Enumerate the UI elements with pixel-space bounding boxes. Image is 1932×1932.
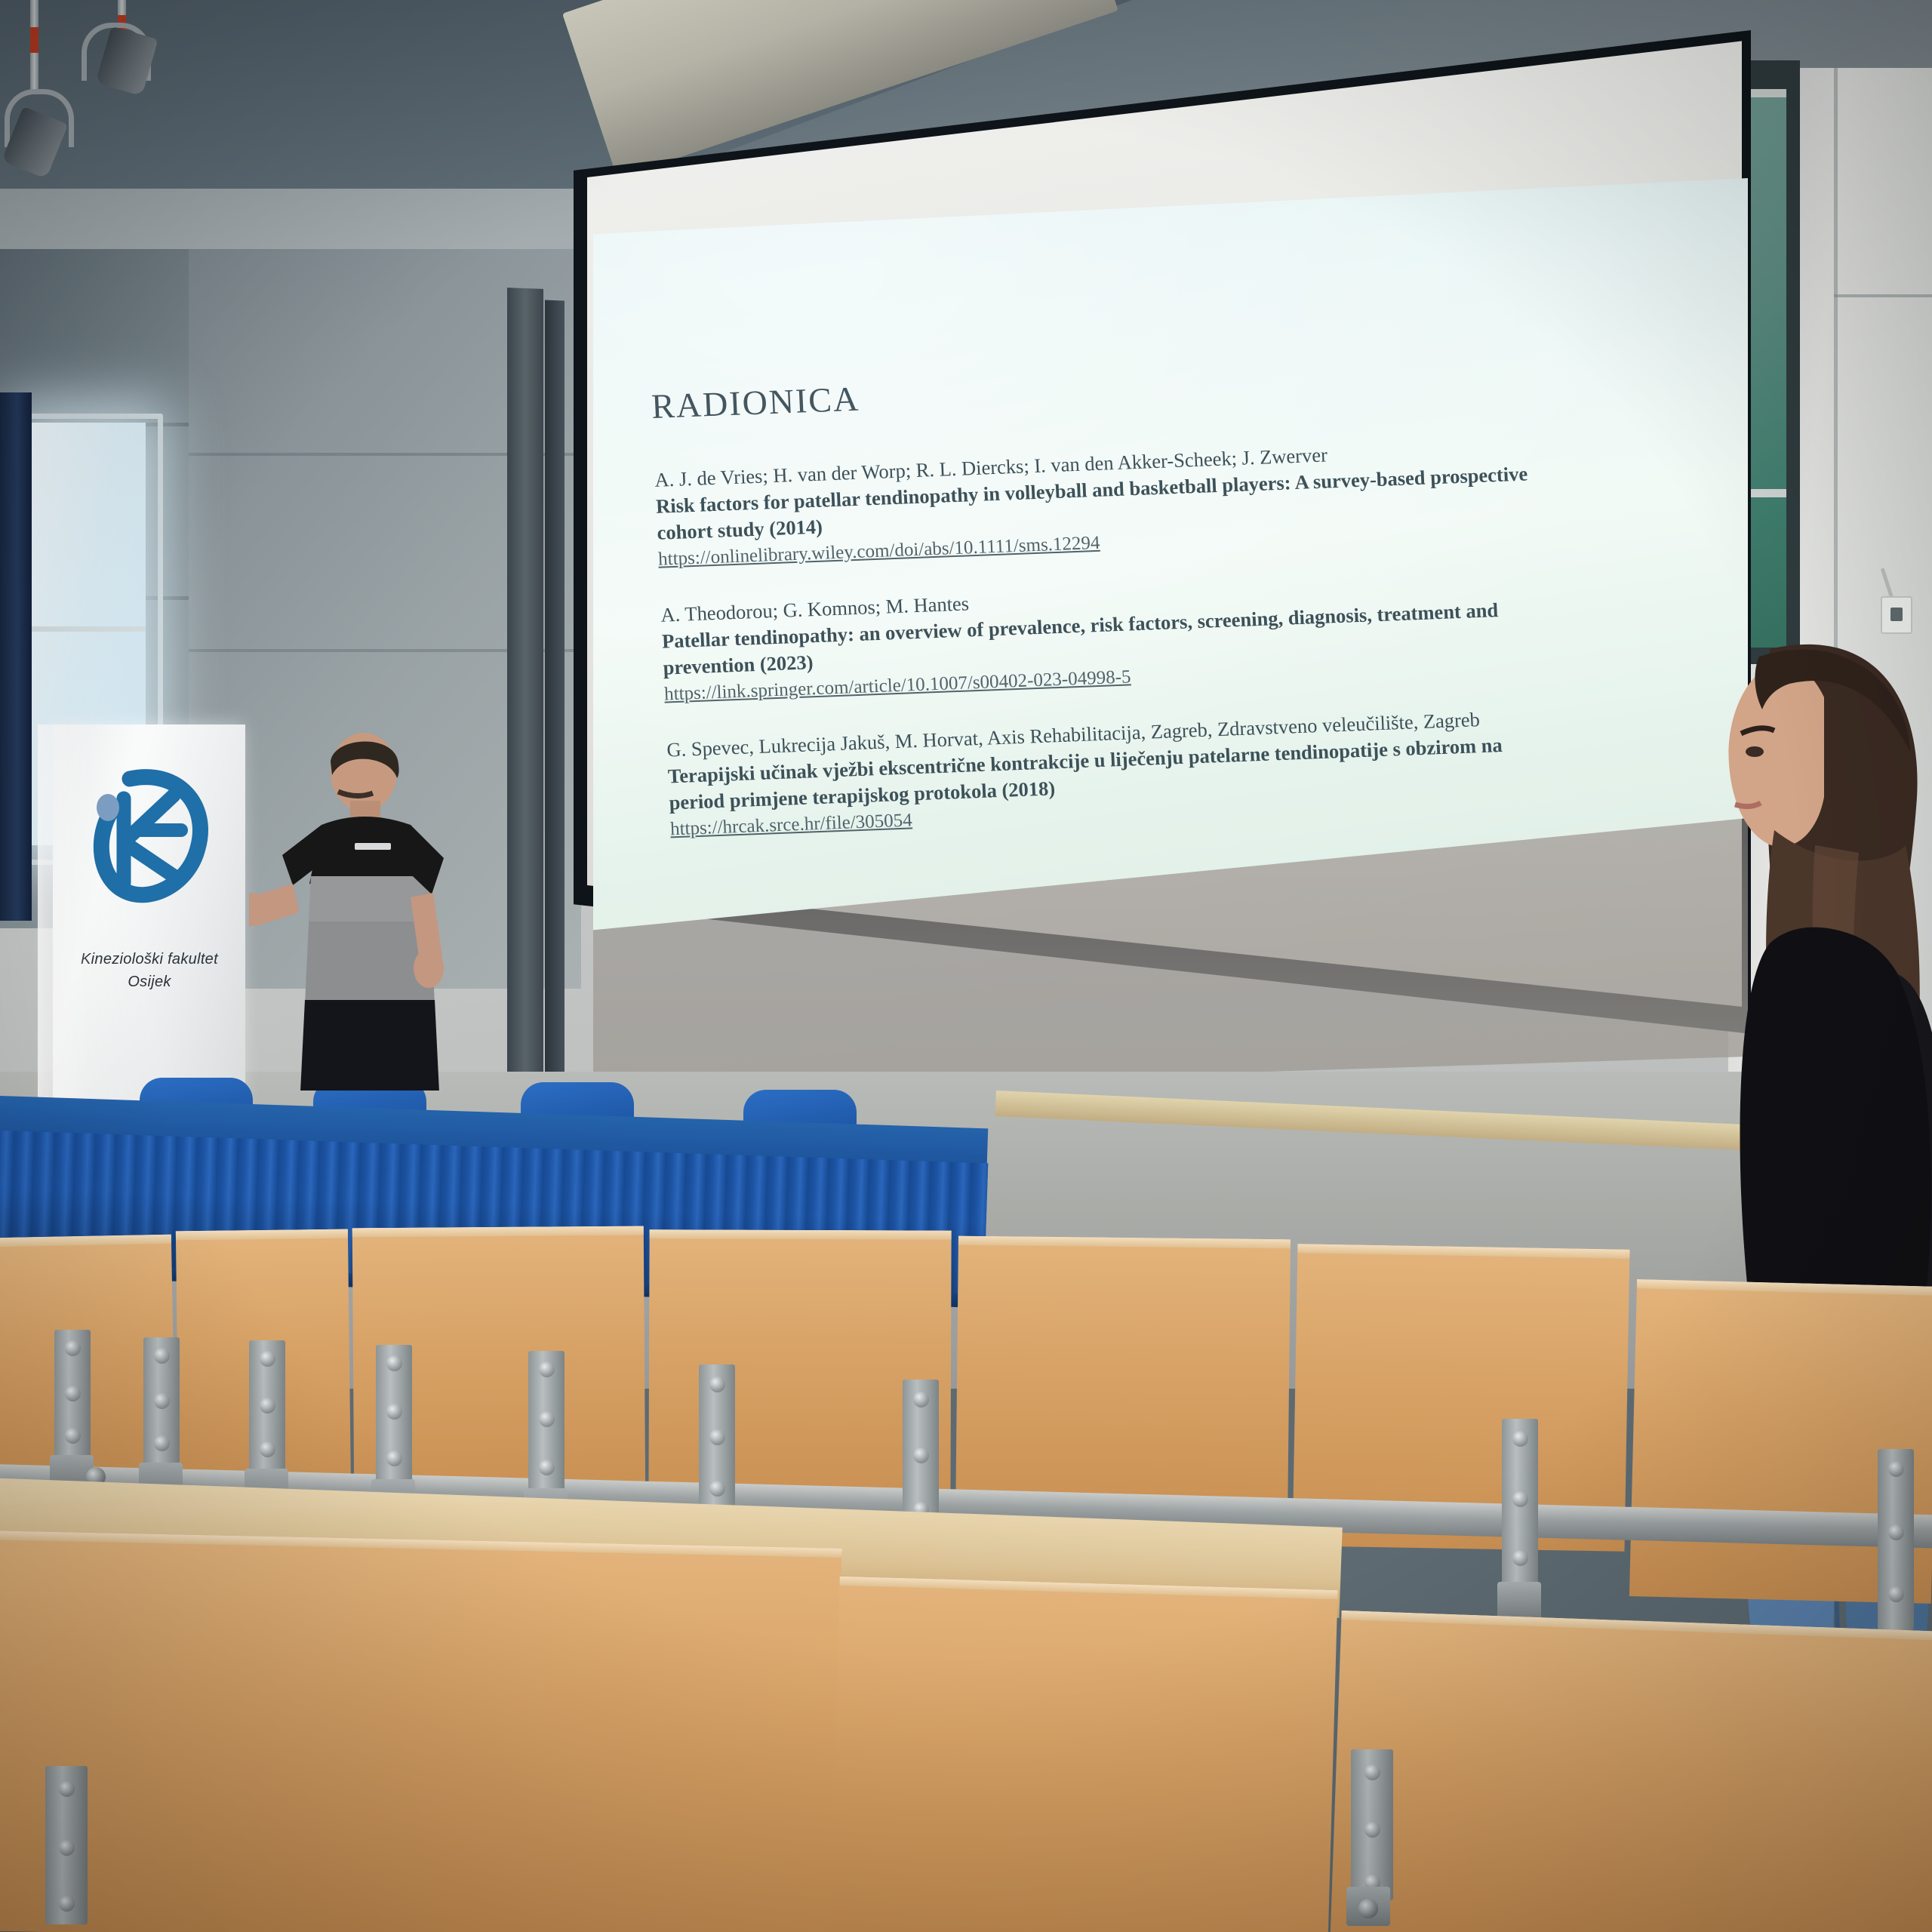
- bench-top-edge: [352, 1226, 644, 1238]
- reference-item: G. Spevec, Lukrecija Jakuš, M. Horvat, A…: [666, 694, 1825, 841]
- bench-bracket: [699, 1364, 735, 1521]
- spotlight-red-band: [30, 27, 38, 53]
- bench-seat-back: [955, 1236, 1291, 1531]
- bracket-screw: [539, 1361, 555, 1377]
- bracket-screw: [154, 1393, 170, 1409]
- banner-caption-line-2: Osijek: [59, 971, 240, 993]
- bench-bracket: [54, 1330, 91, 1466]
- reference-item: A. Theodorou; G. Komnos; M. Hantes Patel…: [660, 558, 1819, 706]
- bracket-screw: [539, 1411, 555, 1427]
- bracket-screw: [260, 1351, 275, 1367]
- bracket-screw: [59, 1781, 75, 1797]
- bracket-screw: [59, 1840, 75, 1856]
- bracket-screw: [1364, 1764, 1380, 1780]
- presenter-man: [249, 728, 491, 1091]
- screen-mount-post: [507, 288, 543, 1089]
- bracket-screw: [1888, 1524, 1904, 1540]
- bench-bracket: [376, 1345, 412, 1490]
- bench-seat-back: [1331, 1611, 1932, 1932]
- bracket-screw: [386, 1451, 402, 1466]
- bracket-screw: [59, 1896, 75, 1912]
- bracket-screw: [65, 1386, 81, 1401]
- bracket-screw: [260, 1441, 275, 1457]
- bracket-screw: [709, 1481, 725, 1497]
- bench-bracket: [143, 1337, 180, 1473]
- bracket-screw: [154, 1348, 170, 1364]
- bench-bracket: [1502, 1419, 1538, 1592]
- bracket-screw: [154, 1435, 170, 1451]
- bracket-screw: [386, 1355, 402, 1371]
- bracket-screw: [1888, 1461, 1904, 1477]
- slide-content: RADIONICA A. J. de Vries; H. van der Wor…: [651, 343, 1829, 930]
- bench-top-edge: [176, 1229, 348, 1241]
- bench-bracket: [528, 1351, 565, 1499]
- spotlight-rod: [30, 0, 38, 91]
- bracket-screw: [913, 1447, 929, 1463]
- bench-bracket: [1351, 1749, 1393, 1900]
- right-wall-trim: [1834, 294, 1932, 297]
- bracket-screw: [386, 1404, 402, 1420]
- bracket-screw: [709, 1377, 725, 1392]
- bracket-screw: [1512, 1431, 1528, 1447]
- lecture-hall-photo: RADIONICA A. J. de Vries; H. van der Wor…: [0, 0, 1932, 1932]
- bench-bracket: [1878, 1449, 1914, 1630]
- bracket-screw: [1512, 1550, 1528, 1566]
- bracket-screw: [1888, 1586, 1904, 1602]
- bench-bracket-foot: [1497, 1582, 1541, 1621]
- screen-mount-post-inner: [545, 300, 565, 1086]
- bracket-screw: [260, 1398, 275, 1414]
- bench-bracket: [45, 1766, 88, 1924]
- bracket-screw: [913, 1392, 929, 1407]
- bench-bracket-pin: [1358, 1899, 1378, 1918]
- bench-seat-back: [829, 1577, 1337, 1932]
- bracket-screw: [539, 1460, 555, 1475]
- bracket-screw: [1364, 1822, 1380, 1838]
- banner-caption: Kineziološki fakultet Osijek: [59, 948, 240, 993]
- curtain: [0, 392, 32, 921]
- venue-banner: Kineziološki fakultet Osijek: [53, 724, 245, 1102]
- reference-item: A. J. de Vries; H. van der Worp; R. L. D…: [654, 423, 1813, 571]
- kf-logo: [85, 764, 213, 907]
- bracket-screw: [65, 1340, 81, 1356]
- bench-top-edge: [650, 1229, 952, 1239]
- bracket-screw: [1512, 1491, 1528, 1507]
- banner-caption-line-1: Kineziološki fakultet: [59, 948, 240, 971]
- bracket-screw: [65, 1428, 81, 1444]
- bracket-screw: [709, 1429, 725, 1445]
- bench-bracket: [249, 1340, 285, 1479]
- window-mullion: [21, 626, 146, 632]
- bench-seat-back: [0, 1531, 841, 1932]
